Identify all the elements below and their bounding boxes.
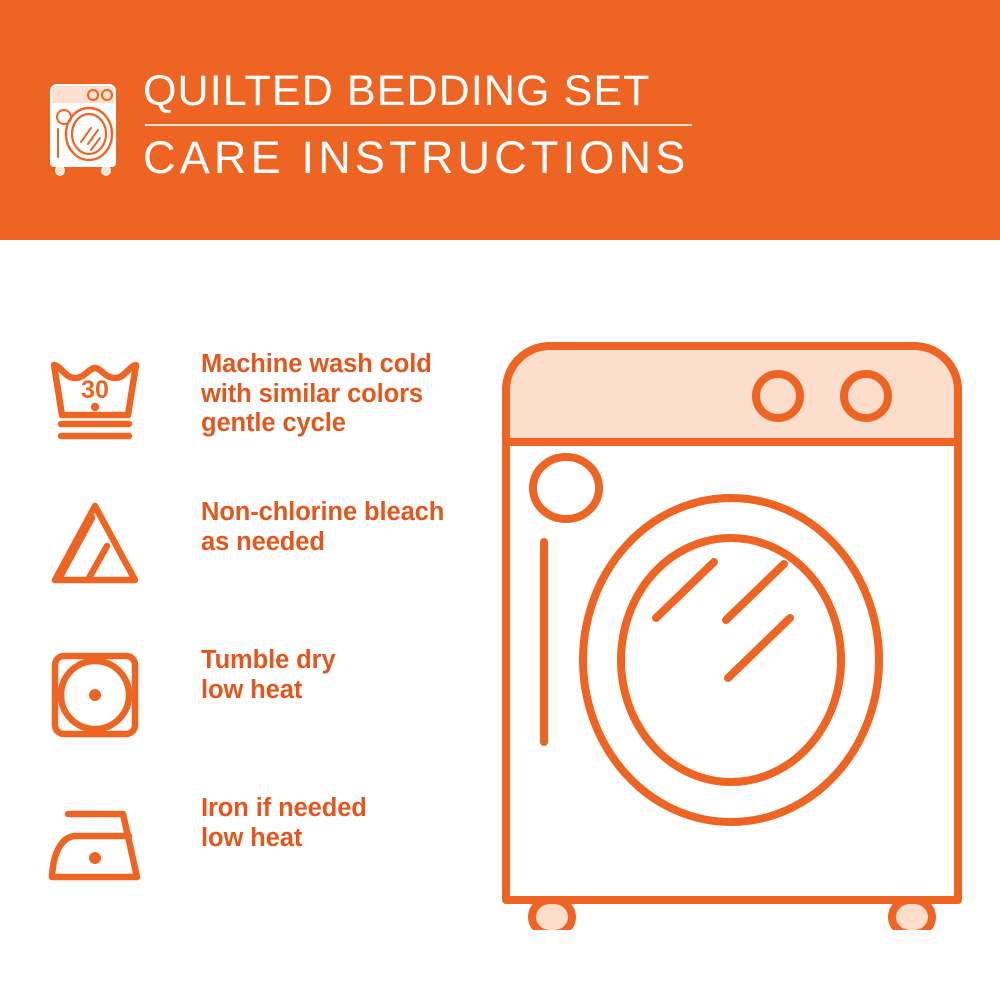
care-label-line: low heat: [201, 824, 367, 854]
care-item-label: Non-chlorine bleach as needed: [201, 496, 444, 557]
page-title: QUILTED BEDDING SET: [143, 66, 703, 116]
care-item-tumble-dry: Tumble dry low heat: [0, 644, 480, 764]
care-instructions-list: 30 Machine wash cold with similar colors…: [0, 240, 480, 1000]
care-item-machine-wash: 30 Machine wash cold with similar colors…: [0, 348, 480, 468]
care-item-bleach: Non-chlorine bleach as needed: [0, 496, 480, 616]
care-item-iron: Iron if needed low heat: [0, 792, 480, 912]
iron-low-heat-icon: [45, 792, 145, 892]
foot-left: [532, 900, 572, 930]
care-label-line: as needed: [201, 528, 444, 558]
care-item-label: Tumble dry low heat: [201, 644, 336, 705]
header-banner: QUILTED BEDDING SET CARE INSTRUCTIONS: [0, 0, 1000, 240]
care-item-label: Machine wash cold with similar colors ge…: [201, 348, 432, 439]
care-label-line: Machine wash cold: [201, 350, 432, 380]
care-label-line: with similar colors: [201, 380, 432, 410]
front-load-washing-machine-illustration: [488, 330, 976, 930]
page-subtitle: CARE INSTRUCTIONS: [143, 132, 703, 184]
wash-tub-30-gentle-icon: 30: [45, 348, 145, 448]
header-title-block: QUILTED BEDDING SET CARE INSTRUCTIONS: [143, 66, 703, 184]
wash-temperature-value: 30: [81, 376, 109, 404]
care-label-line: gentle cycle: [201, 409, 432, 439]
washing-machine-icon: [47, 72, 123, 176]
care-label-line: Iron if needed: [201, 794, 367, 824]
care-label-line: low heat: [201, 676, 336, 706]
foot-right: [892, 900, 932, 930]
title-divider: [145, 124, 692, 126]
care-label-line: Non-chlorine bleach: [201, 498, 444, 528]
tumble-dry-low-heat-icon: [45, 644, 145, 744]
non-chlorine-bleach-triangle-icon: [45, 496, 145, 596]
care-label-line: Tumble dry: [201, 646, 336, 676]
care-item-label: Iron if needed low heat: [201, 792, 367, 853]
